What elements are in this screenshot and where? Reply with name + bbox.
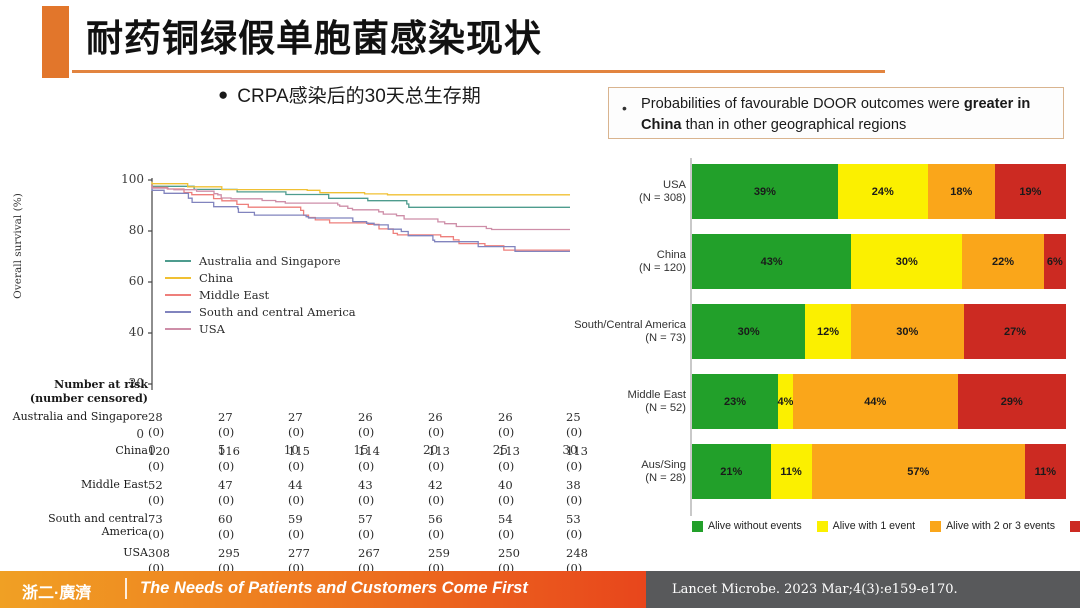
risk-cell-censored: (0): [148, 527, 164, 541]
risk-row-label: Australia and Singapore: [0, 410, 148, 423]
km-curves-svg: [0, 90, 600, 390]
risk-cell-censored: (0): [148, 425, 164, 439]
risk-cell-at-risk: 53: [566, 512, 581, 526]
callout-text: Probabilities of favourable DOOR outcome…: [641, 94, 1059, 136]
km-legend: Australia and SingaporeChinaMiddle EastS…: [165, 252, 356, 337]
bar-row-label: China(N = 120): [639, 249, 686, 275]
risk-cell-censored: (0): [288, 527, 304, 541]
risk-cell-at-risk: 114: [358, 444, 380, 458]
bar-segment: 57%: [812, 444, 1025, 499]
km-legend-label: South and central America: [199, 305, 356, 319]
bar-legend-swatch: [930, 521, 941, 532]
bar-row-label-region: China: [639, 249, 686, 262]
risk-cell-at-risk: 248: [566, 546, 588, 560]
bar-legend-swatch: [817, 521, 828, 532]
risk-cell-at-risk: 44: [288, 478, 303, 492]
bar-chart-legend: Alive without eventsAlive with 1 eventAl…: [692, 520, 1080, 532]
km-legend-label: Middle East: [199, 288, 269, 302]
bar-row-label-n: (N = 120): [639, 262, 686, 275]
bar-segment: 43%: [692, 234, 851, 289]
bar-segment: 27%: [964, 304, 1066, 359]
risk-cell-at-risk: 120: [148, 444, 170, 458]
bar-segment: 19%: [995, 164, 1066, 219]
callout-text-after: than in other geographical regions: [682, 117, 907, 133]
bar-row-label-n: (N = 28): [641, 472, 686, 485]
risk-cell-at-risk: 28: [148, 410, 163, 424]
risk-cell-censored: (0): [566, 527, 582, 541]
footer-brand-band: 浙二·廣濟 The Needs of Patients and Customer…: [0, 571, 646, 608]
risk-row-label: South and central America: [0, 512, 148, 538]
footer-slogan: The Needs of Patients and Customers Come…: [140, 579, 528, 598]
risk-cell-at-risk: 250: [498, 546, 520, 560]
risk-cell-at-risk: 27: [218, 410, 233, 424]
risk-cell-censored: (0): [218, 493, 234, 507]
bar-legend-item: Alive without events: [692, 520, 802, 532]
risk-cell-censored: (0): [428, 425, 444, 439]
bar-legend-item: Alive with 1 event: [817, 520, 915, 532]
km-curve: [152, 187, 570, 251]
bar-row-label: Middle East(N = 52): [628, 389, 686, 415]
bar-row: 23%4%44%29%: [692, 374, 1066, 429]
risk-cell-censored: (0): [218, 425, 234, 439]
km-legend-item: Middle East: [165, 286, 356, 303]
risk-cell-censored: (0): [288, 425, 304, 439]
risk-cell-censored: (0): [358, 493, 374, 507]
risk-cell-at-risk: 60: [218, 512, 233, 526]
risk-cell-at-risk: 27: [288, 410, 303, 424]
risk-cell-at-risk: 113: [498, 444, 520, 458]
footer-citation-text: Lancet Microbe. 2023 Mar;4(3):e159-e170.: [672, 582, 958, 597]
risk-cell-at-risk: 277: [288, 546, 310, 560]
risk-cell-at-risk: 57: [358, 512, 373, 526]
risk-cell-at-risk: 26: [498, 410, 513, 424]
bar-row-label: USA(N = 308): [639, 179, 686, 205]
bar-segment: 21%: [692, 444, 771, 499]
risk-cell-censored: (0): [566, 493, 582, 507]
risk-cell-censored: (0): [218, 527, 234, 541]
bar-segment: 22%: [962, 234, 1043, 289]
bar-segment: 23%: [692, 374, 778, 429]
risk-row-label: Middle East: [0, 478, 148, 491]
footer: 浙二·廣濟 The Needs of Patients and Customer…: [0, 571, 1080, 608]
km-legend-item: South and central America: [165, 303, 356, 320]
bar-row-label-region: USA: [639, 179, 686, 192]
risk-cell-at-risk: 115: [288, 444, 310, 458]
risk-cell-at-risk: 59: [288, 512, 303, 526]
bar-row-label-n: (N = 308): [639, 192, 686, 205]
bar-row-label-n: (N = 73): [574, 332, 686, 345]
left-panel-survival: ●CRPA感染后的30天总生存期 Overall survival (%) 02…: [0, 78, 600, 563]
risk-cell-at-risk: 25: [566, 410, 581, 424]
title-underline-rule: [72, 70, 885, 73]
km-y-tick: 60: [110, 274, 144, 288]
risk-row-label: China: [0, 444, 148, 457]
header-accent-bar: [42, 6, 69, 78]
bar-segment: 30%: [692, 304, 805, 359]
km-legend-item: Australia and Singapore: [165, 252, 356, 269]
footer-divider: [125, 578, 127, 599]
page-title: 耐药铜绿假单胞菌感染现状: [86, 8, 542, 62]
km-y-tick: 40: [110, 325, 144, 339]
risk-cell-censored: (0): [148, 459, 164, 473]
bar-row-label: South/Central America(N = 73): [574, 319, 686, 345]
bar-segment: 30%: [851, 304, 964, 359]
km-legend-label: China: [199, 271, 233, 285]
risk-cell-at-risk: 267: [358, 546, 380, 560]
kaplan-meier-chart: Overall survival (%) 020406080100 051015…: [0, 90, 600, 390]
risk-cell-at-risk: 308: [148, 546, 170, 560]
km-legend-swatch: [165, 260, 191, 262]
bar-segment: 12%: [805, 304, 850, 359]
bar-legend-swatch: [692, 521, 703, 532]
risk-cell-censored: (0): [428, 459, 444, 473]
risk-cell-at-risk: 42: [428, 478, 443, 492]
bar-segment: 4%: [778, 374, 793, 429]
bar-segment: 18%: [928, 164, 995, 219]
risk-cell-censored: (0): [498, 527, 514, 541]
bar-row: 30%12%30%27%: [692, 304, 1066, 359]
risk-cell-at-risk: 56: [428, 512, 443, 526]
bar-segment: 30%: [851, 234, 962, 289]
risk-row-label: USA: [0, 546, 148, 559]
bar-row: 43%30%22%6%: [692, 234, 1066, 289]
bar-legend-swatch: [1070, 521, 1080, 532]
risk-cell-censored: (0): [428, 527, 444, 541]
risk-cell-censored: (0): [218, 459, 234, 473]
risk-cell-censored: (0): [148, 493, 164, 507]
risk-table-title-line2: (number censored): [30, 392, 148, 405]
risk-table-title-line1: Number at risk: [54, 378, 148, 391]
bar-segment: 29%: [958, 374, 1066, 429]
risk-cell-censored: (0): [498, 459, 514, 473]
km-curve: [152, 182, 570, 195]
door-outcomes-stacked-bar-chart: 39%24%18%19%43%30%22%6%30%12%30%27%23%4%…: [608, 158, 1068, 548]
risk-cell-at-risk: 295: [218, 546, 240, 560]
risk-cell-at-risk: 47: [218, 478, 233, 492]
bar-row-label-region: Aus/Sing: [641, 459, 686, 472]
risk-cell-censored: (0): [498, 493, 514, 507]
risk-cell-censored: (0): [566, 459, 582, 473]
risk-cell-censored: (0): [428, 493, 444, 507]
risk-cell-at-risk: 73: [148, 512, 163, 526]
risk-cell-at-risk: 38: [566, 478, 581, 492]
km-legend-label: USA: [199, 322, 225, 336]
bar-segment: 39%: [692, 164, 838, 219]
bar-row-label: Aus/Sing(N = 28): [641, 459, 686, 485]
risk-cell-censored: (0): [358, 425, 374, 439]
callout-box: • Probabilities of favourable DOOR outco…: [608, 87, 1064, 139]
bar-row-label-region: South/Central America: [574, 319, 686, 332]
risk-cell-at-risk: 113: [428, 444, 450, 458]
risk-cell-at-risk: 113: [566, 444, 588, 458]
km-y-tick: 0: [110, 427, 144, 441]
callout-text-before: Probabilities of favourable DOOR outcome…: [641, 96, 964, 112]
risk-cell-at-risk: 40: [498, 478, 513, 492]
risk-cell-at-risk: 43: [358, 478, 373, 492]
risk-table-title: Number at risk (number censored): [0, 378, 148, 406]
risk-cell-at-risk: 26: [358, 410, 373, 424]
km-y-axis-label: Overall survival (%): [12, 186, 24, 306]
bar-row: 21%11%57%11%: [692, 444, 1066, 499]
risk-cell-at-risk: 52: [148, 478, 163, 492]
bar-legend-label: Alive with 1 event: [833, 520, 915, 532]
km-legend-swatch: [165, 277, 191, 279]
km-y-tick: 80: [110, 223, 144, 237]
bar-legend-label: Alive with 2 or 3 events: [946, 520, 1055, 532]
bar-segment: 24%: [838, 164, 928, 219]
km-y-tick: 100: [110, 172, 144, 186]
bar-legend-label: Alive without events: [708, 520, 802, 532]
risk-cell-at-risk: 116: [218, 444, 240, 458]
risk-cell-at-risk: 54: [498, 512, 513, 526]
footer-brand-name: 浙二·廣濟: [22, 579, 91, 603]
km-legend-item: China: [165, 269, 356, 286]
bar-row: 39%24%18%19%: [692, 164, 1066, 219]
km-legend-swatch: [165, 328, 191, 330]
bar-legend-item: Dead: [1070, 520, 1080, 532]
risk-cell-censored: (0): [288, 493, 304, 507]
bar-legend-item: Alive with 2 or 3 events: [930, 520, 1055, 532]
footer-citation-band: Lancet Microbe. 2023 Mar;4(3):e159-e170.: [646, 571, 1080, 608]
bar-segment: 11%: [771, 444, 812, 499]
risk-cell-at-risk: 259: [428, 546, 450, 560]
risk-cell-censored: (0): [358, 459, 374, 473]
bar-row-label-region: Middle East: [628, 389, 686, 402]
risk-cell-censored: (0): [566, 425, 582, 439]
bar-segment: 44%: [793, 374, 958, 429]
km-legend-label: Australia and Singapore: [199, 254, 341, 268]
km-legend-item: USA: [165, 320, 356, 337]
bar-row-label-n: (N = 52): [628, 402, 686, 415]
risk-cell-censored: (0): [288, 459, 304, 473]
risk-cell-at-risk: 26: [428, 410, 443, 424]
callout-bullet-icon: •: [622, 100, 627, 116]
km-legend-swatch: [165, 294, 191, 296]
risk-cell-censored: (0): [498, 425, 514, 439]
km-legend-swatch: [165, 311, 191, 313]
risk-cell-censored: (0): [358, 527, 374, 541]
bar-segment: 6%: [1044, 234, 1066, 289]
bar-segment: 11%: [1025, 444, 1066, 499]
